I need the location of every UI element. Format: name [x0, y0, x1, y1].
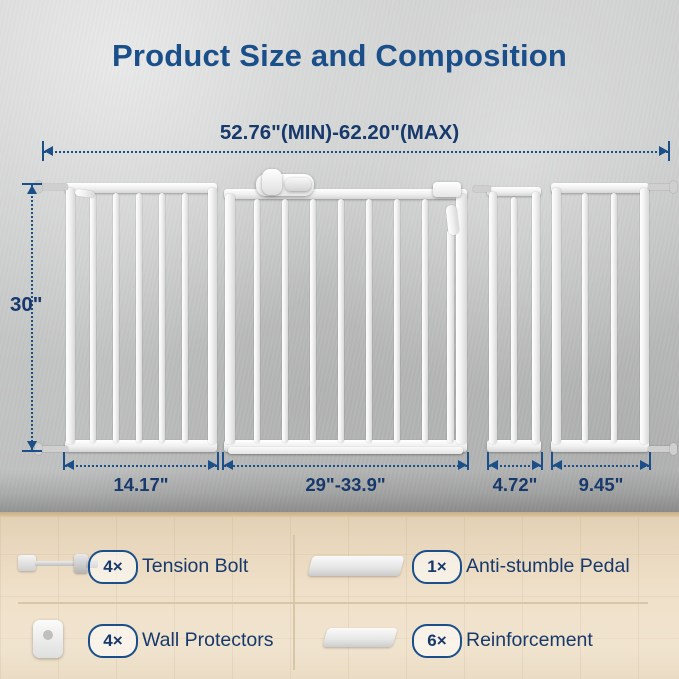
tension-bolt-pad-top-right: [670, 181, 677, 193]
dim-seg1-line: [65, 465, 217, 467]
gate-ext2-top-rail: [551, 183, 649, 193]
wall-protector-qty-badge: 4×: [88, 624, 138, 658]
gate-door-frame-left: [225, 194, 235, 444]
dim-seg2-label: 29"-33.9": [222, 474, 469, 496]
dim-left-line: [31, 185, 33, 450]
dim-height-label: 30": [10, 293, 43, 317]
tension-bolt-top-left: [38, 184, 68, 190]
dim-seg3-label: 4.72": [479, 474, 551, 496]
dim-seg1-label: 14.17": [63, 474, 219, 496]
gate-ext1-frame-left: [489, 192, 497, 444]
dim-seg2-arrow-left: [224, 460, 233, 470]
gate-ext1-baluster: [511, 197, 517, 443]
dim-seg2-right-tick: [467, 452, 469, 470]
gate-ext2-baluster: [611, 193, 617, 443]
dim-seg1-arrow-left: [65, 460, 74, 470]
dim-seg2-line: [224, 465, 467, 467]
tension-bolt-icon: [18, 551, 98, 579]
dim-top-arrow-right: [659, 146, 668, 156]
gate-door-baluster: [338, 199, 344, 443]
gate-left-baluster: [182, 193, 188, 443]
dim-seg3-arrow-left: [489, 460, 498, 470]
gate-left-frame-left: [66, 188, 75, 444]
dim-seg3-right-tick: [541, 452, 543, 470]
gate-ext2-frame-left: [552, 188, 561, 444]
dim-overall-width-label: 52.76"(MIN)-62.20"(MAX): [0, 121, 679, 145]
parts-horizontal-divider: [18, 602, 648, 604]
gate-left-baluster: [159, 193, 165, 443]
dim-seg4-arrow-right: [640, 460, 649, 470]
dim-left-arrow-up: [27, 185, 37, 194]
gate-ext2-bottom-rail: [551, 440, 649, 452]
reinforcement-label: Reinforcement: [466, 629, 593, 652]
anti-stumble-pedal-icon: [308, 556, 405, 576]
anti-stumble-pedal-on-gate: [228, 447, 463, 454]
gate-door-baluster: [394, 199, 400, 443]
reinforcement-qty-badge: 6×: [412, 624, 462, 658]
dim-left-bottom-tick: [22, 450, 42, 452]
dim-top-line: [44, 151, 668, 153]
safety-gate-illustration: [0, 0, 679, 512]
gate-door-baluster: [282, 199, 288, 443]
floor-edge: [0, 512, 679, 517]
dim-seg2-arrow-right: [458, 460, 467, 470]
dim-seg4-arrow-left: [553, 460, 562, 470]
gate-ext2-frame-right: [640, 188, 649, 444]
dim-seg4-line: [553, 465, 649, 467]
wall-protector-icon: [33, 620, 63, 658]
gate-left-baluster: [113, 193, 119, 443]
dim-top-arrow-left: [44, 146, 53, 156]
gate-door-baluster: [366, 199, 372, 443]
gate-door-hinge-top: [433, 182, 461, 197]
dim-seg1-right-tick: [217, 452, 219, 470]
dim-seg3-arrow-right: [532, 460, 541, 470]
gate-left-frame-right: [208, 188, 217, 444]
gate-door-baluster: [422, 199, 428, 443]
gate-left-baluster: [90, 193, 96, 443]
tension-bolt-qty-badge: 4×: [88, 550, 138, 584]
gate-left-top-curve: [75, 189, 96, 199]
tension-bolt-label: Tension Bolt: [142, 555, 248, 578]
anti-stumble-pedal-qty-badge: 1×: [412, 550, 462, 584]
dim-seg1-arrow-right: [208, 460, 217, 470]
gate-ext1-frame-right: [532, 192, 540, 444]
gate-ext2-baluster: [582, 193, 588, 443]
dim-left-arrow-down: [27, 441, 37, 450]
tension-bolt-pad-bottom-right: [670, 443, 677, 455]
dim-seg4-label: 9.45": [551, 474, 651, 496]
gate-door-post: [447, 230, 454, 443]
gate-door-baluster: [254, 199, 260, 443]
wall-protector-label: Wall Protectors: [142, 629, 273, 652]
anti-stumble-pedal-label: Anti-stumble Pedal: [466, 555, 630, 578]
gate-latch-button[interactable]: [262, 169, 282, 195]
gate-left-baluster: [136, 193, 142, 443]
parts-list: 4× Tension Bolt 1× Anti-stumble Pedal 4×…: [0, 527, 679, 679]
gate-door-baluster: [310, 199, 316, 443]
reinforcement-icon: [322, 628, 397, 647]
tension-bolt-ext1-top: [473, 186, 491, 192]
product-size-composition-infographic: Product Size and Composition: [0, 0, 679, 679]
gate-latch-slider[interactable]: [285, 178, 311, 191]
dim-seg4-right-tick: [649, 452, 651, 470]
